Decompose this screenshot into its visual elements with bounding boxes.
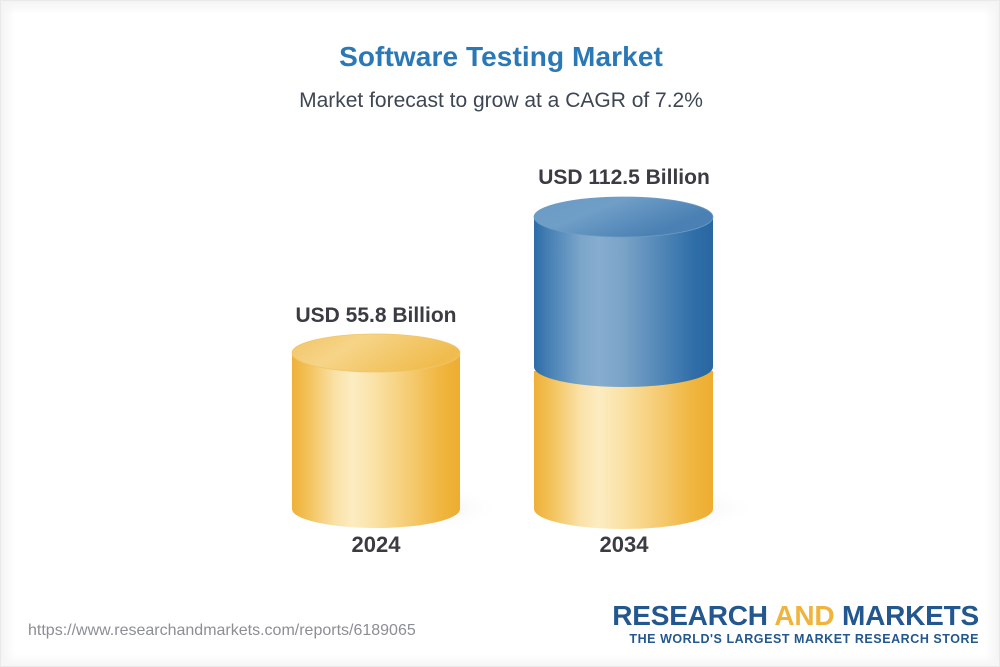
bar-cylinder-2034	[534, 197, 713, 529]
value-label-2024: USD 55.8 Billion	[266, 304, 486, 328]
category-label-2024: 2024	[286, 532, 466, 558]
brand-tagline: THE WORLD'S LARGEST MARKET RESEARCH STOR…	[612, 632, 979, 646]
source-url[interactable]: https://www.researchandmarkets.com/repor…	[28, 622, 416, 640]
brand-wordmark-and: AND	[774, 600, 834, 631]
bar-cylinder-2024	[292, 334, 460, 528]
brand-wordmark: RESEARCH AND MARKETS	[612, 601, 979, 630]
cylinder-bars-svg	[1, 1, 1000, 601]
value-label-2034: USD 112.5 Billion	[513, 166, 735, 190]
brand-wordmark-markets: MARKETS	[834, 600, 979, 631]
chart-card: Software Testing Market Market forecast …	[0, 0, 1000, 667]
plot-area: USD 55.8 Billion USD 112.5 Billion 2024 …	[1, 1, 1000, 601]
brand-logo: RESEARCH AND MARKETS THE WORLD'S LARGEST…	[612, 601, 979, 646]
category-label-2034: 2034	[534, 532, 714, 558]
brand-wordmark-research: RESEARCH	[612, 600, 774, 631]
